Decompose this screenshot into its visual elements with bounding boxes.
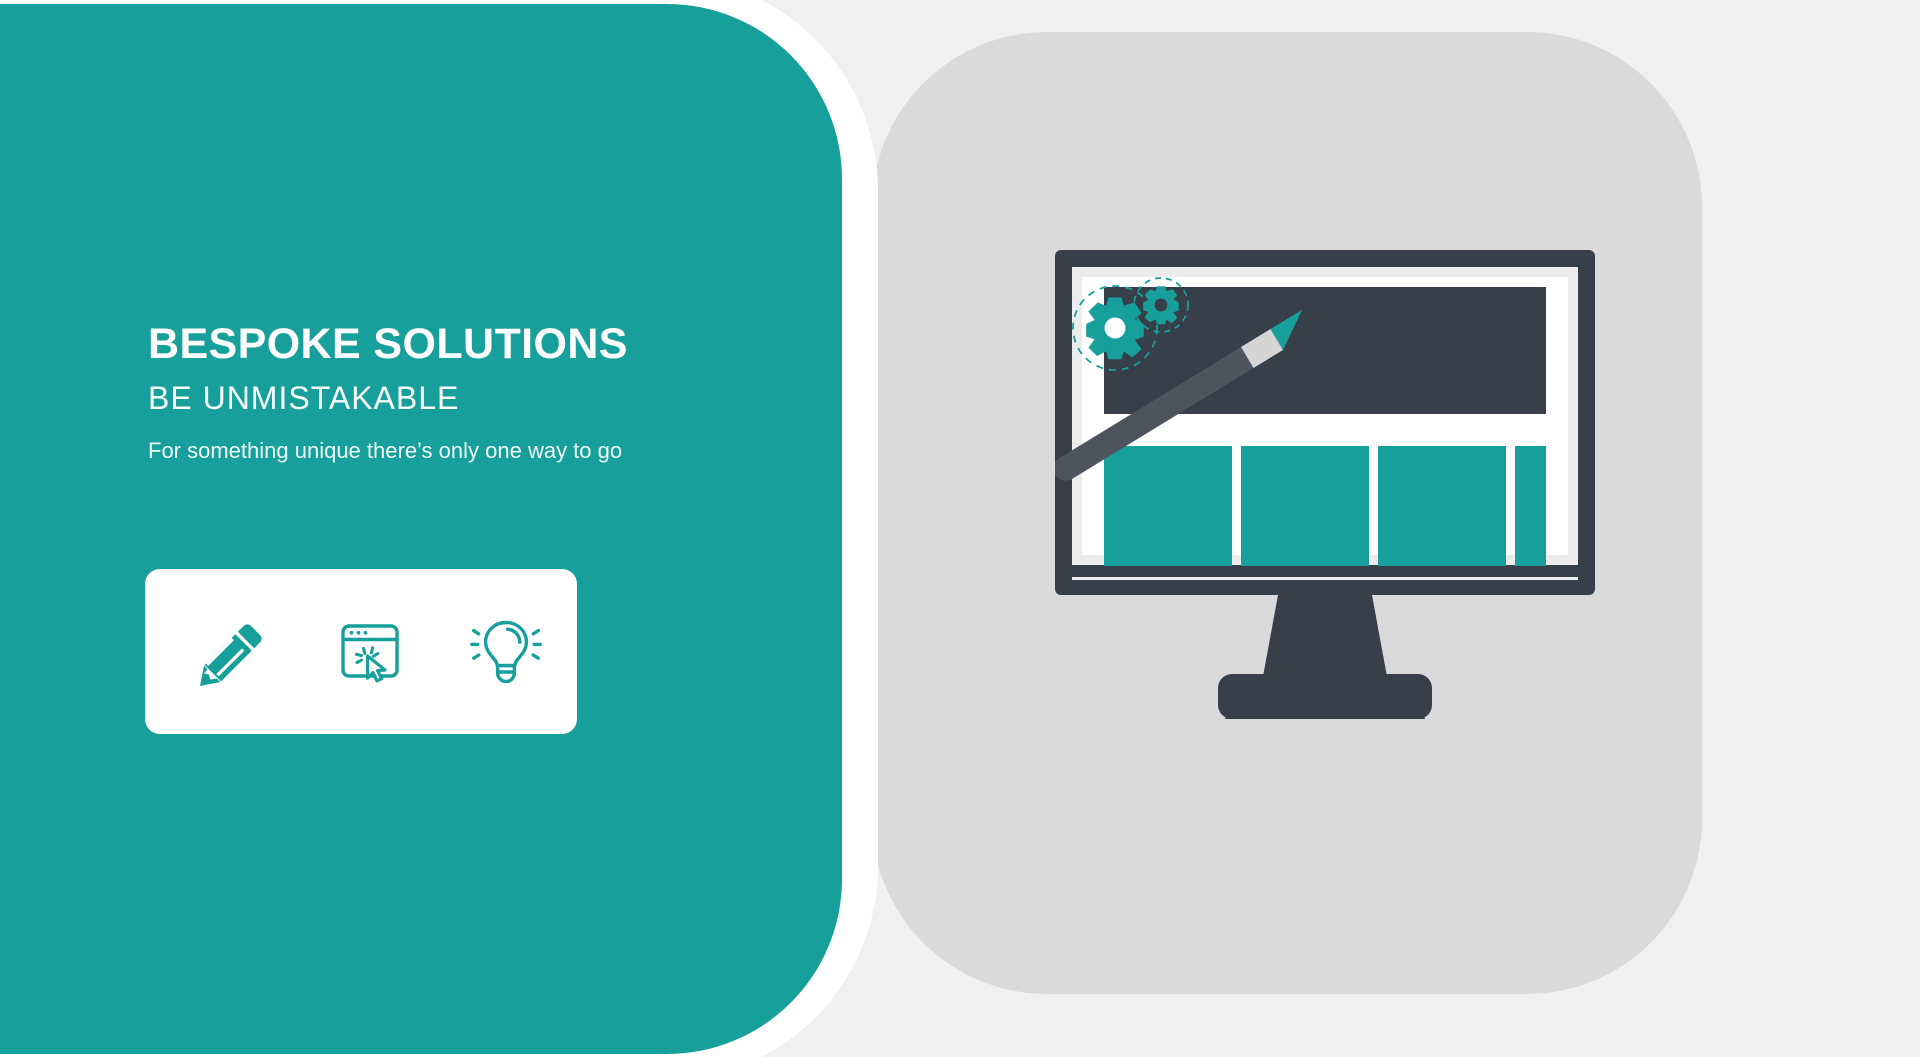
- teal-content-card: [0, 4, 842, 1054]
- content-block-2: [1241, 446, 1369, 566]
- teal-card-inner: [0, 4, 842, 1050]
- content-block-1: [1104, 446, 1232, 566]
- desktop-monitor-illustration: [1055, 250, 1695, 810]
- hero-subtitle: BE UNMISTAKABLE: [148, 381, 788, 416]
- gear-small-icon: [1143, 286, 1179, 324]
- hero-banner: BESPOKE SOLUTIONS BE UNMISTAKABLE For so…: [0, 0, 1920, 1057]
- pencil-icon[interactable]: [195, 613, 273, 691]
- feature-icon-card: [145, 569, 577, 734]
- hero-tagline: For something unique there’s only one wa…: [148, 438, 788, 464]
- hero-copy: BESPOKE SOLUTIONS BE UNMISTAKABLE For so…: [148, 322, 788, 465]
- browser-click-icon[interactable]: [331, 613, 409, 691]
- gear-large-icon: [1086, 298, 1144, 360]
- lightbulb-icon[interactable]: [467, 613, 545, 691]
- content-block-3: [1378, 446, 1506, 566]
- page-title: BESPOKE SOLUTIONS: [148, 322, 788, 367]
- monitor-neck: [1262, 595, 1388, 682]
